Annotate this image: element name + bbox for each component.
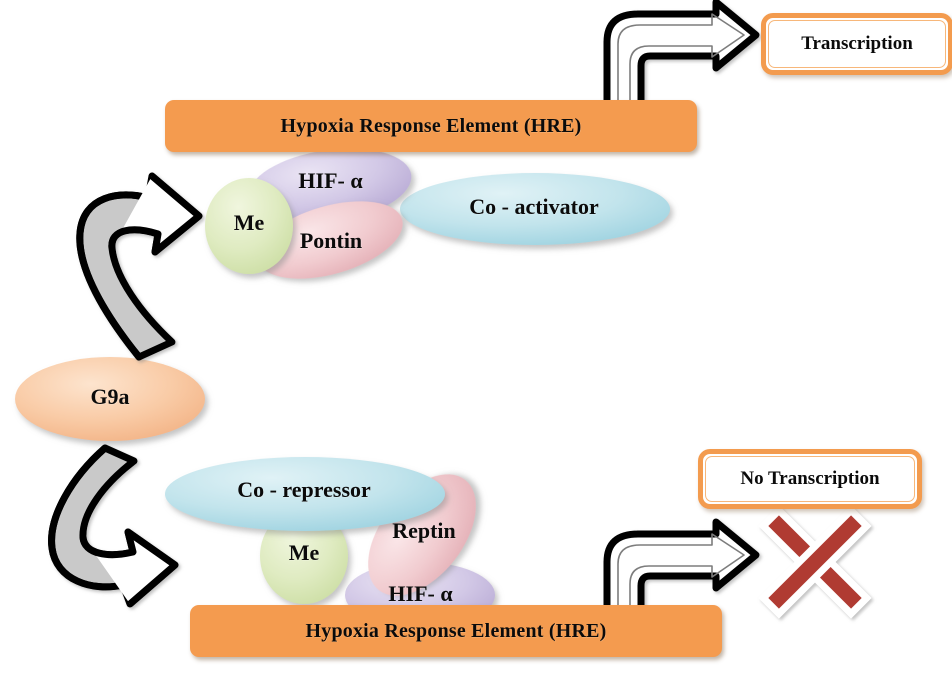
no-transcription-label: No Transcription: [740, 468, 879, 490]
diagram-canvas: Hypoxia Response Element (HRE) Transcrip…: [0, 0, 952, 677]
methyl-label-bottom: Me: [264, 540, 344, 566]
red-x-cross-icon: [763, 510, 866, 613]
hre-label-top: Hypoxia Response Element (HRE): [281, 115, 582, 138]
hif-alpha-label-top: HIF- α: [278, 168, 383, 194]
co-activator-label: Co - activator: [434, 194, 634, 220]
methylation-arrow-bottom: [52, 448, 175, 604]
co-repressor-label: Co - repressor: [198, 477, 410, 503]
hre-label-bottom: Hypoxia Response Element (HRE): [306, 620, 607, 643]
hre-bar-bottom: Hypoxia Response Element (HRE): [190, 605, 722, 657]
reptin-label: Reptin: [374, 518, 474, 544]
pontin-label: Pontin: [283, 228, 379, 254]
transcription-box[interactable]: Transcription: [761, 13, 952, 75]
hre-bar-top: Hypoxia Response Element (HRE): [165, 100, 697, 152]
transcription-arrow-top: [607, 2, 756, 105]
transcription-label: Transcription: [801, 33, 913, 55]
methylation-arrow-top: [80, 176, 199, 357]
hif-alpha-label-bottom: HIF- α: [368, 581, 473, 607]
no-transcription-box[interactable]: No Transcription: [698, 449, 922, 509]
enzyme-g9a-label: G9a: [60, 384, 160, 410]
methyl-label-top: Me: [209, 210, 289, 236]
